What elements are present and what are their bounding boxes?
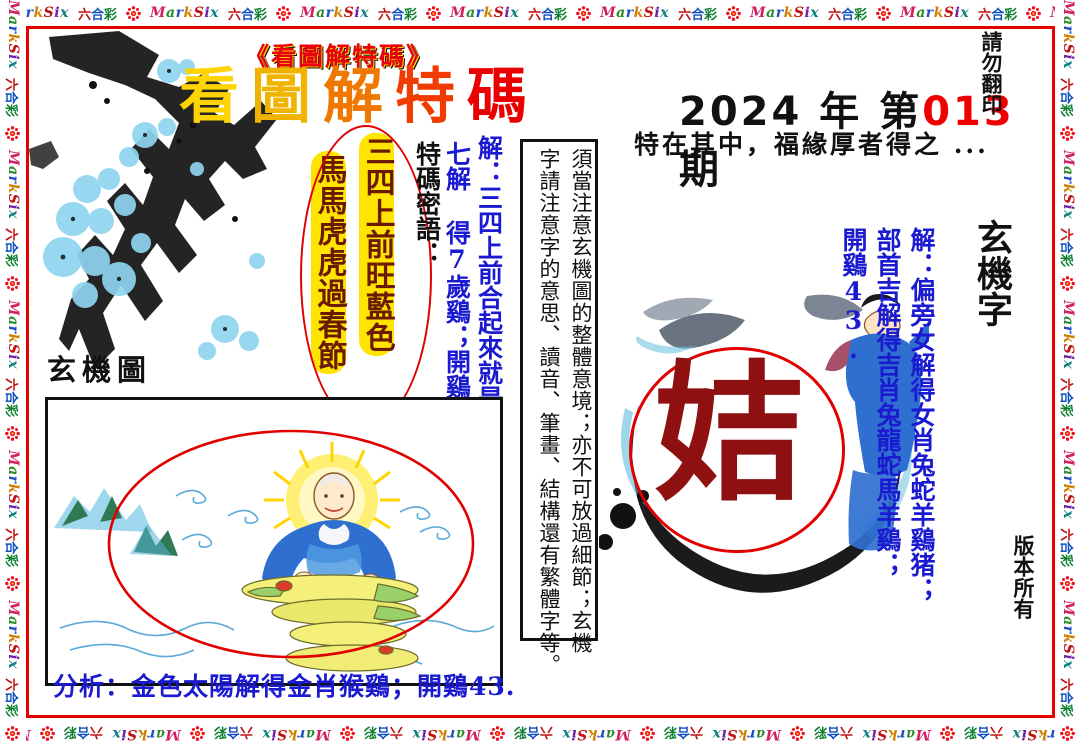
- flower-icon: [6, 576, 21, 591]
- border-brand: MarkSix: [5, 150, 21, 219]
- border-left: MarkSix六合彩MarkSix六合彩MarkSix六合彩MarkSix六合彩…: [0, 0, 26, 747]
- border-brand: MarkSix: [5, 450, 21, 519]
- border-cn-text: 六合彩: [1059, 678, 1078, 717]
- border-cn-text: 六合彩: [678, 4, 717, 23]
- notice-line1: 須當注意玄機圖的整體意境；亦不可放過細節；玄機: [570, 148, 591, 644]
- copyright-line2: 請勿翻印: [981, 31, 1002, 619]
- border-brand: MarkSix: [262, 726, 331, 742]
- secret-explain-line1: 解：三四上前合起來就是: [476, 135, 502, 410]
- border-brand: MarkSix: [900, 5, 969, 21]
- border-cn-text: 六合彩: [1059, 228, 1078, 267]
- couplet-right-column: 三四上前旺藍色: [359, 133, 394, 356]
- flower-icon: [876, 6, 891, 21]
- border-bottom: MarkSix六合彩MarkSix六合彩MarkSix六合彩MarkSix六合彩…: [0, 717, 1081, 747]
- riddle-picture-panel: [45, 397, 503, 686]
- couplet-block: 三四上前旺藍色 馬馬虎虎過春節: [307, 133, 425, 433]
- flower-icon: [726, 6, 741, 21]
- border-cn-text: 六合彩: [214, 725, 253, 744]
- copyright-line1: 版本所有: [1013, 535, 1034, 619]
- border-brand: MarkSix: [5, 600, 21, 669]
- couplet-left-column: 馬馬虎虎過春節: [311, 151, 346, 374]
- border-cn-text: 六合彩: [528, 4, 567, 23]
- flower-icon: [6, 276, 21, 291]
- border-cn-text: 六合彩: [814, 725, 853, 744]
- border-cn-text: 六合彩: [828, 4, 867, 23]
- border-cn-text: 六合彩: [64, 725, 103, 744]
- title-char-2: 圖: [251, 67, 323, 127]
- border-brand: MarkSix: [750, 5, 819, 21]
- picture-caption: 分析：金色太陽解得金肖猴鷄；開鷄43.: [53, 667, 516, 703]
- border-cn-text: 六合彩: [378, 4, 417, 23]
- border-brand: MarkSix: [150, 5, 219, 21]
- xuanjizi-col3: 開鷄43.: [841, 227, 867, 364]
- tagline: 特在其中，福緣厚者得之 ...: [634, 125, 989, 161]
- riddle-scene: [48, 400, 500, 683]
- flower-icon: [1061, 726, 1076, 741]
- lottery-poster: MarkSix六合彩MarkSix六合彩MarkSix六合彩MarkSix六合彩…: [0, 0, 1081, 747]
- flower-icon: [1061, 276, 1076, 291]
- flower-icon: [276, 6, 291, 21]
- border-brand: MarkSix: [412, 726, 481, 742]
- couplet-right-text: 三四上前旺藍色: [359, 133, 394, 356]
- border-brand: MarkSix: [112, 726, 181, 742]
- title-char-3: 解: [323, 67, 395, 127]
- flower-icon: [576, 6, 591, 21]
- flower-icon: [640, 727, 655, 742]
- border-brand: MarkSix: [1060, 600, 1076, 669]
- border-cn-text: 六合彩: [978, 4, 1017, 23]
- border-brand: MarkSix: [450, 5, 519, 21]
- flower-icon: [1061, 426, 1076, 441]
- border-brand: MarkSix: [600, 5, 669, 21]
- border-cn-text: 六合彩: [364, 725, 403, 744]
- flower-icon: [1061, 576, 1076, 591]
- border-cn-text: 六合彩: [1059, 528, 1078, 567]
- riddle-character: 姞: [654, 359, 804, 509]
- poster-frame: 《看圖解特碼》 看圖解特碼 2024 年 第013期 特在其中，福緣厚者得之 .…: [26, 26, 1055, 718]
- border-brand: MarkSix: [300, 5, 369, 21]
- border-brand: MarkSix: [5, 300, 21, 369]
- flower-icon: [126, 6, 141, 21]
- border-cn-text: 六合彩: [1059, 78, 1078, 117]
- title-char-1: 看: [179, 67, 251, 127]
- title-char-5: 碼: [467, 67, 539, 127]
- xuanjizi-col2: 部首吉解得吉肖兔龍蛇馬羊鷄；: [875, 227, 901, 577]
- border-cn-text: 六合彩: [4, 228, 23, 267]
- flower-icon: [490, 727, 505, 742]
- xuanjizi-col1: 解：偏旁女解得女肖兔蛇羊鷄猪；: [909, 227, 935, 602]
- border-cn-text: 六合彩: [4, 678, 23, 717]
- border-cn-text: 六合彩: [4, 528, 23, 567]
- flower-icon: [6, 726, 21, 741]
- border-cn-text: 六合彩: [4, 78, 23, 117]
- flower-icon: [1061, 126, 1076, 141]
- border-cn-text: 六合彩: [964, 725, 1003, 744]
- border-brand: MarkSix: [712, 726, 781, 742]
- flower-icon: [790, 727, 805, 742]
- notice-box: 須當注意玄機圖的整體意境；亦不可放過細節；玄機 字請注意字的意思、讀音、筆畫、結…: [520, 139, 598, 641]
- border-cn-text: 六合彩: [228, 4, 267, 23]
- title-char-4: 特: [395, 67, 467, 127]
- border-top: MarkSix六合彩MarkSix六合彩MarkSix六合彩MarkSix六合彩…: [0, 0, 1081, 26]
- flower-icon: [190, 727, 205, 742]
- flower-icon: [940, 727, 955, 742]
- border-cn-text: 六合彩: [664, 725, 703, 744]
- border-brand: MarkSix: [1060, 0, 1076, 69]
- secret-label: 特碼密語：: [414, 141, 440, 266]
- flower-icon: [1026, 6, 1041, 21]
- page-title: 看圖解特碼: [179, 67, 539, 127]
- border-brand: MarkSix: [5, 0, 21, 69]
- flower-icon: [6, 126, 21, 141]
- border-brand: MarkSix: [562, 726, 631, 742]
- border-cn-text: 六合彩: [1059, 378, 1078, 417]
- border-cn-text: 六合彩: [4, 378, 23, 417]
- border-cn-text: 六合彩: [514, 725, 553, 744]
- couplet-left-text: 馬馬虎虎過春節: [311, 151, 346, 374]
- border-brand: MarkSix: [1060, 450, 1076, 519]
- border-right: MarkSix六合彩MarkSix六合彩MarkSix六合彩MarkSix六合彩…: [1055, 0, 1081, 747]
- notice-line2: 字請注意字的意思、讀音、筆畫、結構還有繁體字等。: [538, 148, 559, 644]
- picture-label: 玄機圖: [47, 347, 152, 389]
- flower-icon: [6, 426, 21, 441]
- flower-icon: [40, 727, 55, 742]
- border-brand: MarkSix: [862, 726, 931, 742]
- flower-icon: [340, 727, 355, 742]
- border-brand: MarkSix: [1060, 150, 1076, 219]
- border-brand: MarkSix: [1060, 300, 1076, 369]
- flower-icon: [426, 6, 441, 21]
- border-cn-text: 六合彩: [78, 4, 117, 23]
